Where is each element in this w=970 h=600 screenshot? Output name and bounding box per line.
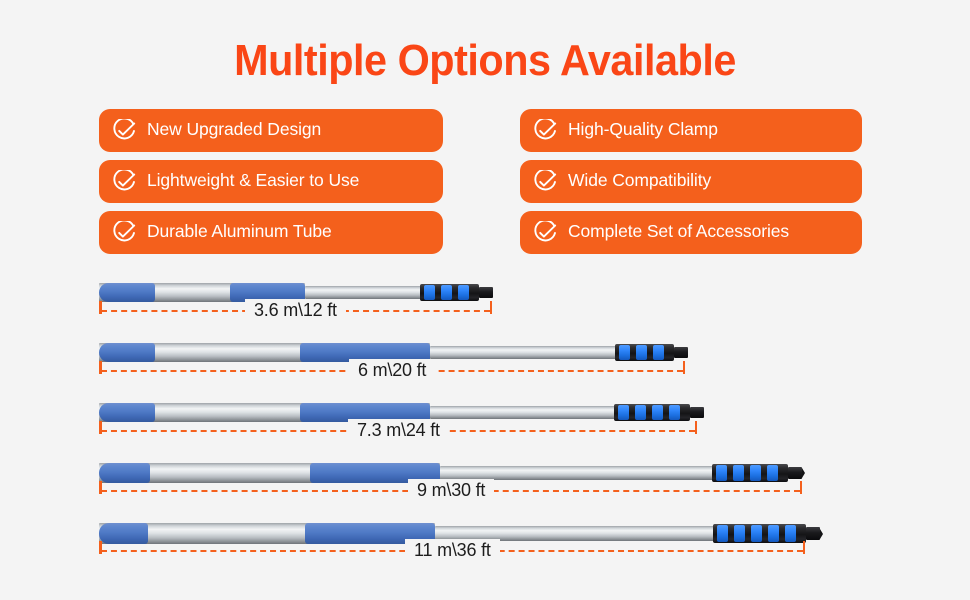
clamp-lever-1	[618, 405, 629, 420]
clamp-lever-1	[619, 345, 630, 360]
length-label: 6 m\20 ft	[349, 359, 435, 381]
length-measure-1: 3.6 m\12 ft	[99, 299, 492, 321]
length-measure-3: 7.3 m\24 ft	[99, 419, 697, 441]
aluminum-tube-section-2	[305, 286, 424, 299]
clamp-lever-2	[635, 405, 646, 420]
feature-badge-label: Lightweight & Easier to Use	[147, 172, 359, 190]
feature-badge-left-1[interactable]: New Upgraded Design	[99, 109, 443, 152]
check-circle-icon	[533, 221, 557, 245]
clamp-lever-3	[458, 285, 469, 300]
measure-cap-left	[99, 541, 102, 554]
measure-cap-right	[803, 541, 806, 554]
feature-badge-right-2[interactable]: Wide Compatibility	[520, 160, 862, 203]
aluminum-tube-section-2	[430, 346, 619, 359]
length-measure-5: 11 m\36 ft	[99, 539, 805, 561]
check-circle-icon	[533, 119, 557, 143]
length-label: 3.6 m\12 ft	[245, 299, 346, 321]
check-circle-icon	[533, 170, 557, 194]
clamp-lever-2	[636, 345, 647, 360]
pole-tip-body	[690, 407, 704, 418]
measure-cap-left	[99, 361, 102, 374]
clamp-lever-2	[441, 285, 452, 300]
feature-badge-right-3[interactable]: Complete Set of Accessories	[520, 211, 862, 254]
feature-badge-label: Durable Aluminum Tube	[147, 223, 332, 241]
clamp-lever-1	[424, 285, 435, 300]
pole-tip-cone	[802, 468, 805, 478]
clamp-lever-3	[652, 405, 663, 420]
measure-cap-left	[99, 421, 102, 434]
aluminum-tube-section-2	[440, 466, 716, 480]
feature-badge-left-2[interactable]: Lightweight & Easier to Use	[99, 160, 443, 203]
feature-badge-label: Complete Set of Accessories	[568, 223, 789, 241]
feature-badge-right-1[interactable]: High-Quality Clamp	[520, 109, 862, 152]
feature-badge-label: Wide Compatibility	[568, 172, 711, 190]
measure-cap-right	[695, 421, 698, 434]
check-circle-icon	[112, 221, 136, 245]
pole-tip-cone	[820, 529, 823, 539]
infographic-canvas: Multiple Options Available New Upgraded …	[0, 0, 970, 600]
measure-cap-left	[99, 301, 102, 314]
measure-cap-right	[490, 301, 493, 314]
clamp-lever-4	[669, 405, 680, 420]
length-measure-2: 6 m\20 ft	[99, 359, 685, 381]
length-label: 11 m\36 ft	[405, 539, 500, 561]
aluminum-tube-section-2	[430, 406, 618, 419]
length-measure-4: 9 m\30 ft	[99, 479, 802, 501]
feature-badge-left-3[interactable]: Durable Aluminum Tube	[99, 211, 443, 254]
length-label: 7.3 m\24 ft	[348, 419, 449, 441]
measure-cap-right	[683, 361, 686, 374]
pole-tip-body	[479, 287, 493, 298]
measure-cap-left	[99, 481, 102, 494]
check-circle-icon	[112, 119, 136, 143]
feature-badge-label: New Upgraded Design	[147, 121, 321, 139]
pole-tip-body	[806, 527, 820, 540]
measure-cap-right	[800, 481, 803, 494]
pole-tip-body	[788, 467, 802, 479]
length-label: 9 m\30 ft	[408, 479, 494, 501]
feature-badge-label: High-Quality Clamp	[568, 121, 718, 139]
page-title: Multiple Options Available	[29, 36, 941, 86]
pole-tip-body	[674, 347, 688, 358]
check-circle-icon	[112, 170, 136, 194]
clamp-lever-3	[653, 345, 664, 360]
